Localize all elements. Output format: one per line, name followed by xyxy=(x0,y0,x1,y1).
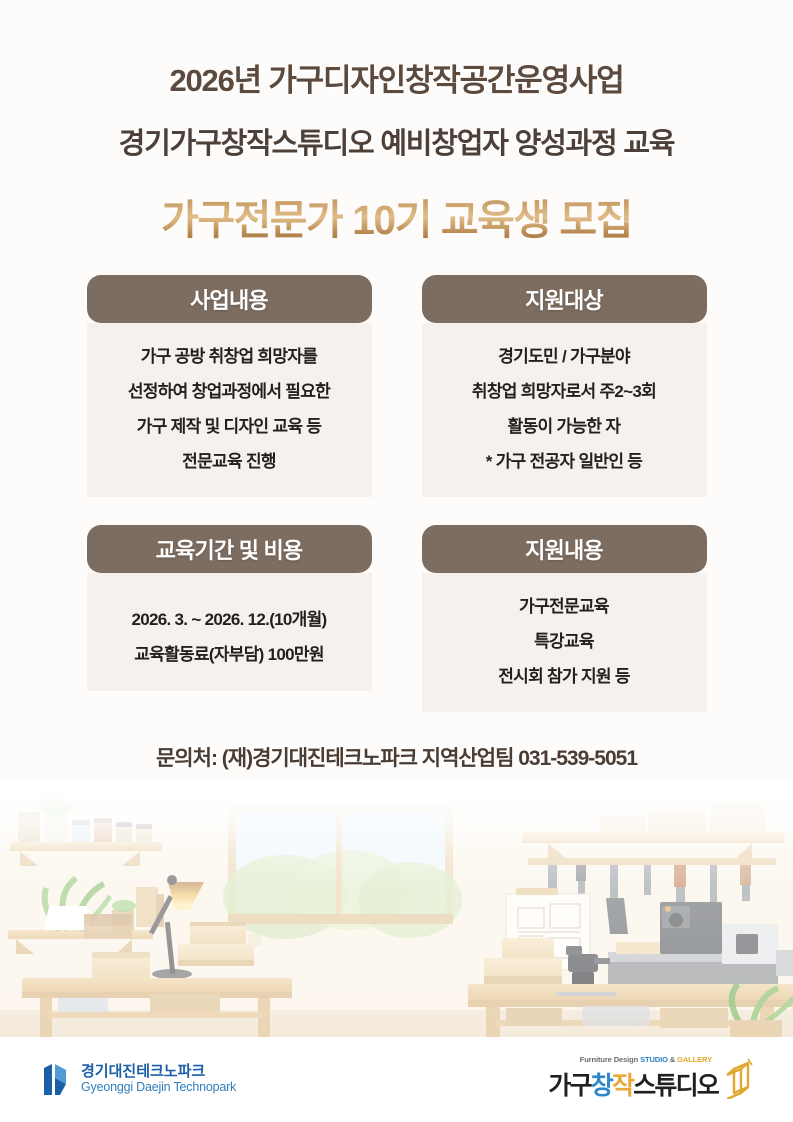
info-box-header-eligibility: 지원대상 xyxy=(422,275,707,323)
info-box-body-eligibility: 경기도민 / 가구분야 취창업 희망자로서 주2~3회 활동이 가능한 자 * … xyxy=(422,323,707,497)
info-box-row-1: 사업내용 가구 공방 취창업 희망자를 선정하여 창업과정에서 필요한 가구 제… xyxy=(0,275,793,497)
info-box-body-support-content: 가구전문교육 특강교육 전시회 참가 지원 등 xyxy=(422,573,707,712)
technopark-name-korean: 경기대진테크노파크 xyxy=(81,1064,236,1080)
tagline-part-gallery: GALLERY xyxy=(677,1055,712,1064)
technopark-wordmark: 경기대진테크노파크 Gyeonggi Daejin Technopark xyxy=(81,1064,236,1095)
info-line: 전문교육 진행 xyxy=(95,444,364,479)
info-line: 가구전문교육 xyxy=(430,589,699,624)
info-line: 특강교육 xyxy=(430,624,699,659)
poster-root: 2026년 가구디자인창작공간운영사업 경기가구창작스튜디오 예비창업자 양성과… xyxy=(0,0,793,1122)
technopark-mark-icon xyxy=(42,1062,72,1096)
workshop-illustration xyxy=(0,782,793,1037)
workshop-scene-svg xyxy=(0,782,793,1037)
info-line: 가구 공방 취창업 희망자를 xyxy=(95,339,364,374)
info-box-header-business-content: 사업내용 xyxy=(87,275,372,323)
studio-word-studio: 스튜디오 xyxy=(633,1072,718,1100)
info-line: 선정하여 창업과정에서 필요한 xyxy=(95,374,364,409)
studio-word-chang: 창 xyxy=(591,1072,612,1100)
logo-furniture-creative-studio: Furniture Design STUDIO & GALLERY 가구창작스튜… xyxy=(548,1057,758,1099)
chair-icon xyxy=(722,1057,758,1099)
studio-wordmark: 가구창작스튜디오 xyxy=(548,1062,718,1099)
info-box-business-content: 사업내용 가구 공방 취창업 희망자를 선정하여 창업과정에서 필요한 가구 제… xyxy=(87,275,372,497)
info-box-body-business-content: 가구 공방 취창업 희망자를 선정하여 창업과정에서 필요한 가구 제작 및 디… xyxy=(87,323,372,497)
info-line: 2026. 3. ~ 2026. 12.(10개월) xyxy=(95,589,364,637)
info-line: 활동이 가능한 자 xyxy=(430,409,699,444)
tagline-part-amp: & xyxy=(668,1055,677,1064)
tagline-part-furniture-design: Furniture Design xyxy=(580,1055,640,1064)
headline-program-name: 경기가구창작스튜디오 예비창업자 양성과정 교육 xyxy=(0,120,793,162)
poster-headings: 2026년 가구디자인창작공간운영사업 경기가구창작스튜디오 예비창업자 양성과… xyxy=(0,0,793,246)
headline-program-year: 2026년 가구디자인창작공간운영사업 xyxy=(0,55,793,100)
info-box-support-content: 지원내용 가구전문교육 특강교육 전시회 참가 지원 등 xyxy=(422,525,707,712)
tagline-part-studio: STUDIO xyxy=(640,1055,668,1064)
info-line: * 가구 전공자 일반인 등 xyxy=(430,444,699,479)
footer-logos: 경기대진테크노파크 Gyeonggi Daejin Technopark Fur… xyxy=(0,1037,793,1122)
info-box-period-and-cost: 교육기간 및 비용 2026. 3. ~ 2026. 12.(10개월) 교육활… xyxy=(87,525,372,712)
info-box-body-period-and-cost: 2026. 3. ~ 2026. 12.(10개월) 교육활동료(자부담) 10… xyxy=(87,573,372,691)
studio-tagline: Furniture Design STUDIO & GALLERY xyxy=(580,1055,712,1064)
studio-word-jak: 작 xyxy=(612,1072,633,1100)
studio-word-gagu: 가구 xyxy=(548,1072,590,1100)
logo-gyeonggi-daejin-technopark: 경기대진테크노파크 Gyeonggi Daejin Technopark xyxy=(42,1062,236,1096)
info-box-header-support-content: 지원내용 xyxy=(422,525,707,573)
info-box-eligibility: 지원대상 경기도민 / 가구분야 취창업 희망자로서 주2~3회 활동이 가능한… xyxy=(422,275,707,497)
info-box-header-period-and-cost: 교육기간 및 비용 xyxy=(87,525,372,573)
contact-info: 문의처: (재)경기대진테크노파크 지역산업팀 031-539-5051 xyxy=(0,742,793,772)
info-line: 경기도민 / 가구분야 xyxy=(430,339,699,374)
info-line: 교육활동료(자부담) 100만원 xyxy=(95,637,364,672)
info-box-row-2: 교육기간 및 비용 2026. 3. ~ 2026. 12.(10개월) 교육활… xyxy=(0,525,793,712)
headline-main-recruit: 가구전문가 10기 교육생 모집 xyxy=(0,186,793,246)
info-line: 가구 제작 및 디자인 교육 등 xyxy=(95,409,364,444)
info-line: 전시회 참가 지원 등 xyxy=(430,659,699,694)
info-line: 취창업 희망자로서 주2~3회 xyxy=(430,374,699,409)
info-box-grid: 사업내용 가구 공방 취창업 희망자를 선정하여 창업과정에서 필요한 가구 제… xyxy=(0,275,793,740)
technopark-name-english: Gyeonggi Daejin Technopark xyxy=(81,1081,236,1094)
